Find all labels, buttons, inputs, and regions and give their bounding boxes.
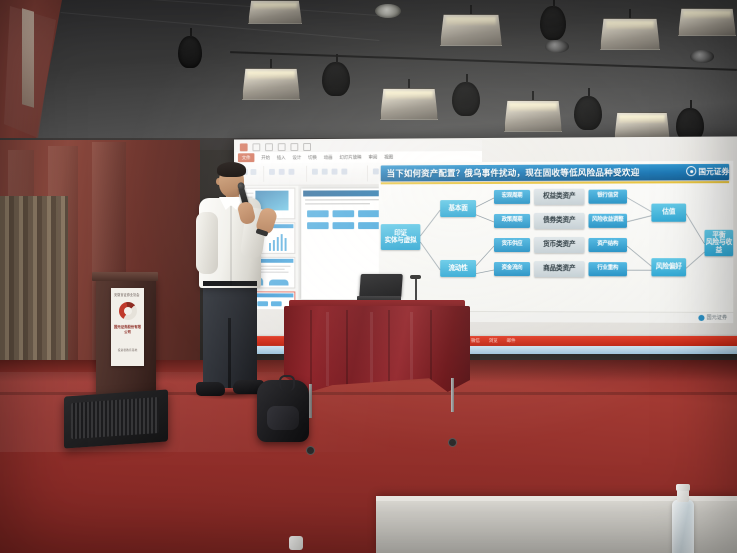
- stage-light: [504, 100, 560, 130]
- flow-node: 宏观周期: [494, 190, 530, 204]
- redo-icon[interactable]: [278, 143, 286, 151]
- ceiling-trim: [22, 8, 34, 107]
- taskbar-item[interactable]: 浏览: [489, 338, 498, 344]
- backpack-pocket: [267, 406, 299, 430]
- water-bottle: [672, 500, 694, 553]
- flow-node: 流动性: [440, 260, 476, 277]
- speaker-grille: [71, 397, 159, 439]
- flow-node: 印证 实体与虚拟: [381, 224, 421, 250]
- flow-node: 货币供应: [494, 238, 530, 252]
- stage-light: [242, 68, 298, 98]
- footer-brand-name: 国元证券: [707, 314, 728, 321]
- stage-light: [248, 0, 300, 22]
- save-icon[interactable]: [252, 143, 260, 151]
- stage-light: [322, 62, 350, 96]
- podium: 安徽省证券业协会 国元证券股份有限公司 投资者教育基地: [96, 276, 156, 394]
- tab-transitions[interactable]: 切换: [308, 154, 317, 160]
- tab-design[interactable]: 设计: [292, 154, 301, 160]
- stage-light: [614, 112, 668, 140]
- present-icon[interactable]: [290, 143, 298, 151]
- conference-photo-scene: 文件 开始 插入 设计 切换 动画 幻灯片放映 审阅 视图: [0, 0, 737, 553]
- podium-subtitle: 投资者教育基地: [113, 348, 142, 352]
- footer-brand-lockup: 国元证券: [698, 314, 727, 321]
- stage-light: [678, 8, 734, 34]
- table-caster: [306, 446, 315, 455]
- tab-view[interactable]: 视图: [384, 154, 393, 160]
- podium-top-surface: [92, 272, 158, 281]
- backpack: [257, 380, 309, 442]
- microphone-stand: [415, 278, 417, 302]
- table-leg: [309, 384, 312, 418]
- stage-light: [178, 36, 202, 68]
- stage-light: [540, 6, 566, 40]
- tab-slideshow[interactable]: 幻灯片放映: [339, 154, 361, 160]
- backpack-handle: [279, 375, 295, 391]
- flow-node: 平衡 风险与收益: [705, 230, 734, 256]
- tab-insert[interactable]: 插入: [277, 155, 286, 161]
- stage-light: [375, 4, 401, 18]
- flow-node: 估值: [651, 204, 686, 222]
- chevron-down-icon[interactable]: [303, 143, 311, 151]
- stage-light: [600, 18, 658, 48]
- flow-node: 政策周期: [494, 214, 530, 228]
- flow-node: 货币类资产: [534, 237, 584, 253]
- speaker-shirt-placket: [230, 206, 232, 286]
- tab-home[interactable]: 开始: [261, 155, 270, 161]
- flow-node: 行业重构: [588, 262, 626, 276]
- table-drape: [284, 306, 470, 392]
- speaker-leg-separation: [228, 318, 231, 388]
- podium-banner: 安徽省证券业协会 国元证券股份有限公司 投资者教育基地: [111, 288, 144, 366]
- tab-file[interactable]: 文件: [238, 153, 255, 162]
- taskbar-item[interactable]: 微信: [471, 338, 480, 344]
- flow-node: 商品类资产: [534, 261, 584, 277]
- speaker-shoe-left: [196, 382, 225, 396]
- flow-node: 权益类资产: [534, 189, 584, 205]
- flow-node: 银行信贷: [588, 190, 626, 204]
- projected-slide: 当下如何资产配置？俄乌事件扰动，现在固收等低风险品种受欢迎 国元证券: [379, 161, 733, 323]
- laptop-screen[interactable]: [359, 274, 403, 298]
- stage-light: [690, 50, 714, 63]
- table-leg: [451, 378, 454, 412]
- stage-light: [545, 40, 569, 53]
- undo-icon[interactable]: [265, 143, 273, 151]
- circle-target-icon: [698, 314, 704, 320]
- podium-banner-top-text: 安徽省证券业协会: [114, 292, 140, 297]
- bottle-cap: [289, 536, 303, 550]
- stage-light: [380, 88, 436, 118]
- stage-monitor-speaker: [64, 389, 168, 448]
- stage-light: [452, 82, 480, 116]
- swirl-logo-icon: [119, 302, 137, 320]
- tab-animations[interactable]: 动画: [324, 154, 333, 160]
- table-caster: [448, 438, 457, 447]
- flow-node: 资金流向: [494, 262, 530, 276]
- flow-node: 资产结构: [588, 238, 626, 252]
- flow-node: 基本面: [440, 200, 476, 217]
- stage-light: [574, 96, 602, 130]
- taskbar-item[interactable]: 邮件: [507, 338, 516, 344]
- flow-node: 债券类资产: [534, 213, 584, 229]
- stage-light: [440, 14, 500, 44]
- speaker-arm-left: [196, 212, 218, 274]
- flow-node: 风险偏好: [651, 258, 686, 276]
- speaker-hair: [217, 162, 246, 177]
- flow-node: 风险收益调整: [588, 214, 626, 228]
- powerpoint-logo-icon: [240, 143, 248, 151]
- podium-organization-name: 国元证券股份有限公司: [113, 324, 142, 334]
- tab-review[interactable]: 审阅: [368, 154, 377, 160]
